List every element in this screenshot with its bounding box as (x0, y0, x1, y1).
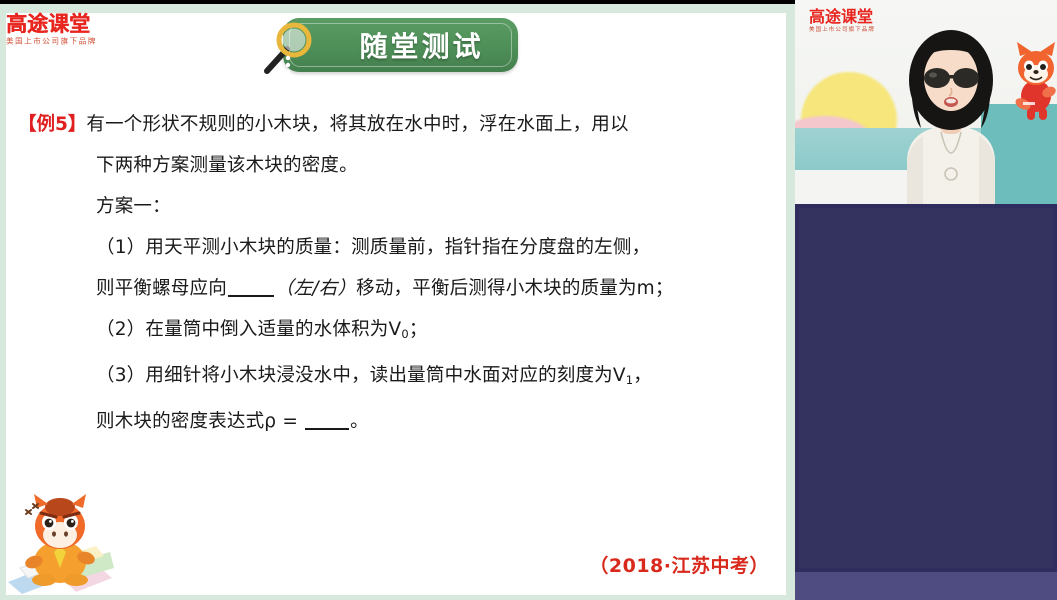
text-line-1: 【例5】有一个形状不规则的小木块，将其放在水中时，浮在水面上，用以 (18, 104, 778, 145)
step-3-text-b: ， (633, 365, 652, 386)
teacher-avatar (891, 24, 1011, 204)
step-3-text-a: （3）用细针将小木块浸没水中，读出量筒中水面对应的刻度为V (96, 365, 626, 386)
step-2-text-b: ； (409, 319, 428, 340)
step-1-cont-a: 则平衡螺母应向 (96, 278, 227, 299)
slide-body-text: 【例5】有一个形状不规则的小木块，将其放在水中时，浮在水面上，用以 下两种方案测… (18, 104, 778, 442)
section-title-text: 随堂测试 (283, 18, 518, 72)
teacher-video-feed[interactable]: 高途课堂 美国上市公司旗下品牌 (795, 0, 1057, 204)
step-2-text-a: （2）在量筒中倒入适量的水体积为V (96, 319, 401, 340)
video-panel-footer[interactable] (795, 572, 1057, 600)
step-1-cont-b: 移动，平衡后测得小木块的质量为m； (356, 278, 673, 299)
brand-logo-subtitle: 美国上市公司旗下品牌 (6, 36, 97, 46)
brand-logo-name: 高途课堂 (6, 13, 97, 36)
section-title-banner: 随堂测试 (283, 18, 518, 72)
text-line-2: 下两种方案测量该木块的密度。 (18, 145, 778, 186)
video-side-panel[interactable] (795, 204, 1057, 572)
answer-blank-1 (228, 295, 274, 297)
video-watermark-logo: 高途课堂 美国上市公司旗下品牌 (809, 8, 875, 35)
step-1-option: （左/右） (275, 278, 356, 299)
slide-frame-top (0, 4, 795, 13)
density-formula-label: 则木块的密度表达式ρ = (96, 411, 304, 432)
step-2-subscript: 0 (401, 327, 409, 341)
slide-frame-right (786, 4, 795, 600)
horse-mascot-icon (4, 486, 116, 596)
fox-mascot-icon (1013, 42, 1057, 122)
video-side-panel-inner (799, 208, 1053, 568)
slide-frame-bottom (0, 595, 795, 600)
text-line-5: 则平衡螺母应向（左/右）移动，平衡后测得小木块的质量为m； (18, 268, 778, 309)
answer-blank-2 (305, 428, 349, 430)
text-line-4: （1）用天平测小木块的质量：测质量前，指针指在分度盘的左侧， (18, 227, 778, 268)
source-credit: （2018·江苏中考） (589, 551, 769, 578)
text-line-7: （3）用细针将小木块浸没水中，读出量筒中水面对应的刻度为V1， (18, 355, 778, 401)
density-formula-end: 。 (350, 411, 369, 432)
slide-area: 高途课堂 美国上市公司旗下品牌 随堂测试 【例5】有一个形状不规则的小木块，将其… (0, 0, 795, 600)
magnifier-icon (258, 20, 318, 78)
plan-one-label: 方案一： (96, 196, 171, 217)
text-line-1-main: 有一个形状不规则的小木块，将其放在水中时，浮在水面上，用以 (86, 114, 628, 135)
brand-logo: 高途课堂 美国上市公司旗下品牌 (6, 13, 97, 47)
text-line-2-main: 下两种方案测量该木块的密度。 (96, 155, 358, 176)
text-line-3: 方案一： (18, 186, 778, 227)
example-tag: 【例5】 (18, 114, 86, 135)
text-line-8: 则木块的密度表达式ρ = 。 (18, 401, 778, 442)
lesson-screen: 高途课堂 美国上市公司旗下品牌 随堂测试 【例5】有一个形状不规则的小木块，将其… (0, 0, 1057, 600)
video-watermark-name: 高途课堂 (809, 8, 875, 26)
top-black-strip (0, 0, 795, 4)
text-line-6: （2）在量筒中倒入适量的水体积为V0； (18, 309, 778, 355)
video-watermark-subtitle: 美国上市公司旗下品牌 (809, 26, 875, 35)
video-panel[interactable]: 高途课堂 美国上市公司旗下品牌 (795, 0, 1057, 600)
step-1-text: （1）用天平测小木块的质量：测质量前，指针指在分度盘的左侧， (96, 237, 650, 258)
